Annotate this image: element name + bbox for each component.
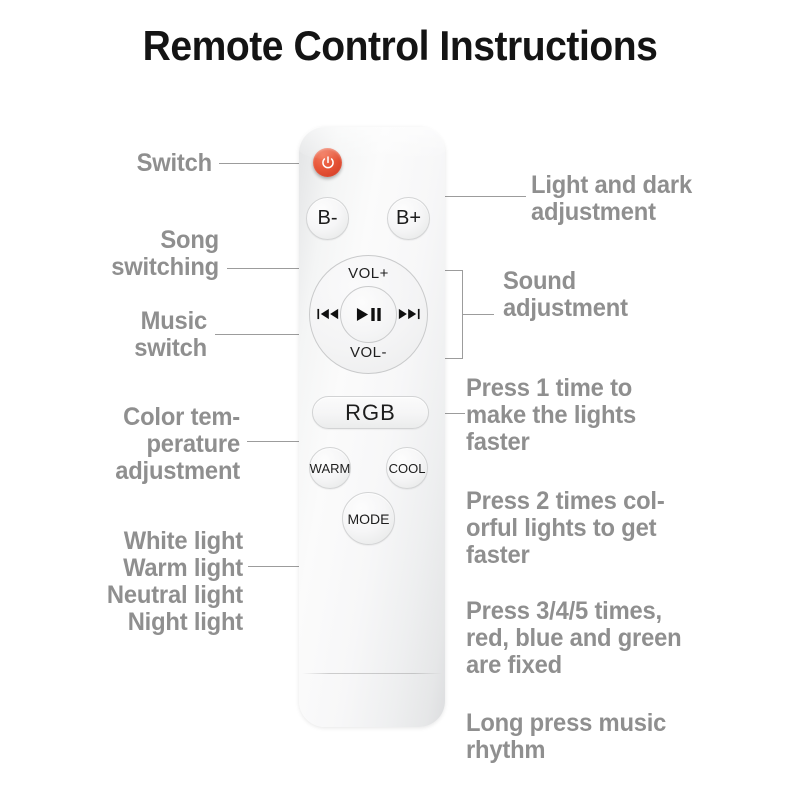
prev-track-button[interactable]: [316, 305, 340, 323]
leader-line-sound-adjustment: [462, 314, 494, 315]
callout-sound-adjustment: Sound adjustment: [503, 268, 741, 322]
brightness-up-label: B+: [396, 207, 421, 230]
callout-switch: Switch: [11, 150, 212, 177]
rgb-label: RGB: [345, 400, 396, 426]
callout-song-switching: Song switching: [11, 227, 219, 281]
brightness-down-button[interactable]: B-: [306, 197, 349, 240]
brightness-up-button[interactable]: B+: [387, 197, 430, 240]
instruction-diagram: Remote Control Instructions: [0, 0, 800, 800]
remote-control-body: B- B+ VOL+ VOL-: [299, 127, 445, 727]
callout-press-345-times: Press 3/4/5 times, red, blue and green a…: [466, 598, 761, 679]
rgb-button[interactable]: RGB: [312, 396, 429, 429]
callout-light-and-dark: Light and dark adjustment: [531, 172, 778, 226]
mode-button[interactable]: MODE: [342, 492, 395, 545]
play-pause-icon: [356, 307, 382, 322]
callout-long-press: Long press music rhythm: [466, 710, 751, 764]
callout-press-2-times: Press 2 times col- orful lights to get f…: [466, 488, 756, 569]
play-pause-button[interactable]: [340, 286, 397, 343]
mode-label: MODE: [348, 511, 390, 527]
callout-music-switch: Music switch: [10, 308, 207, 362]
page-title: Remote Control Instructions: [28, 22, 772, 70]
vol-up-label: VOL+: [310, 265, 427, 282]
power-icon: [320, 155, 336, 171]
warm-button[interactable]: WARM: [309, 447, 351, 489]
next-track-button[interactable]: [397, 305, 421, 323]
brightness-down-label: B-: [318, 207, 338, 230]
prev-track-icon: [317, 308, 339, 320]
cool-label: COOL: [389, 461, 426, 476]
callout-press-1-time: Press 1 time to make the lights faster: [466, 375, 751, 456]
power-button[interactable]: [313, 148, 342, 177]
navigation-ring[interactable]: VOL+ VOL-: [309, 255, 428, 374]
callout-color-temperature: Color tem- perature adjustment: [12, 404, 240, 485]
warm-label: WARM: [310, 461, 351, 476]
remote-seam-line: [302, 673, 442, 674]
vol-down-label: VOL-: [310, 344, 427, 361]
callout-light-modes: White light Warm light Neutral light Nig…: [12, 528, 243, 636]
cool-button[interactable]: COOL: [386, 447, 428, 489]
next-track-icon: [398, 308, 420, 320]
